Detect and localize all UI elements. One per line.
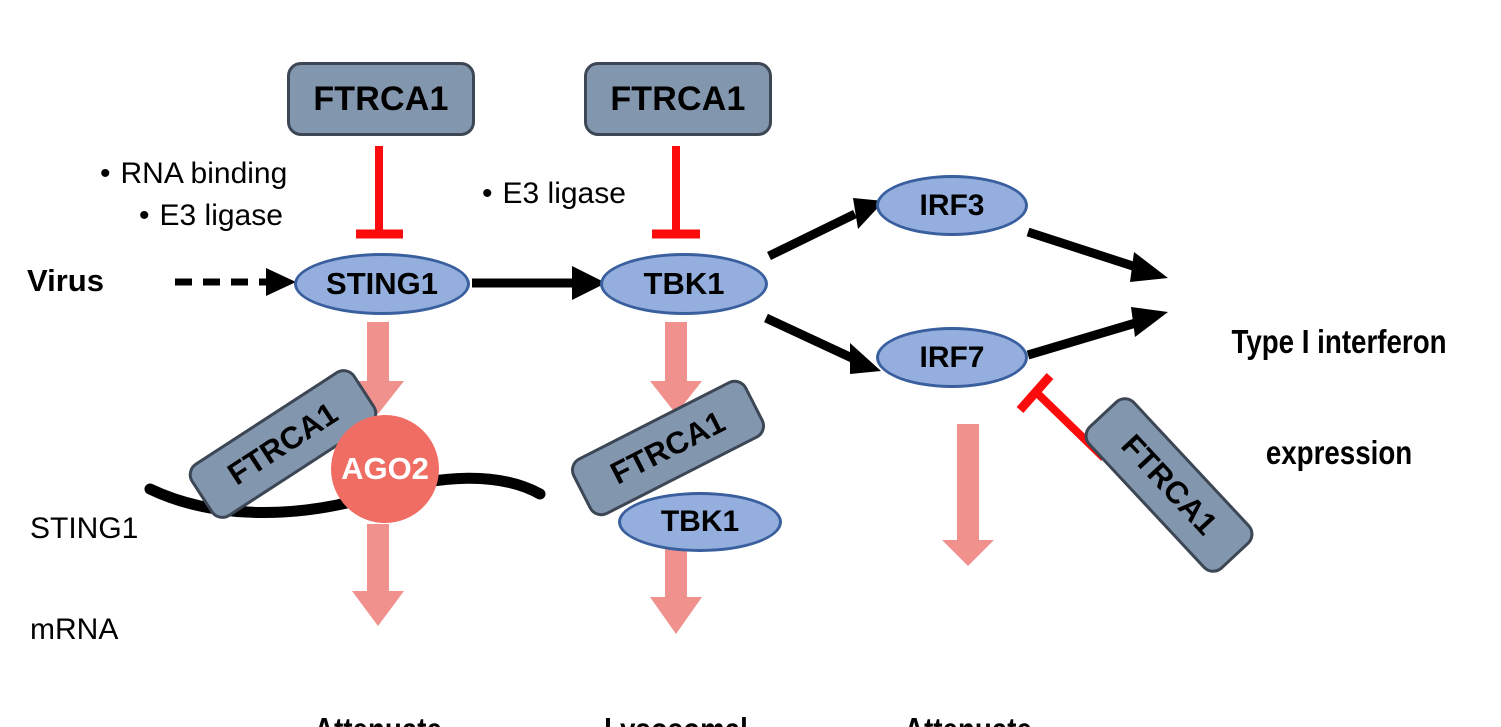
node-label: IRF7 bbox=[919, 341, 984, 375]
edge-tbk1-to-irf7 bbox=[766, 318, 881, 374]
pink-arrow-ago2-down bbox=[352, 524, 404, 626]
label-line-1: Attenuate bbox=[867, 712, 1069, 727]
pink-arrow-irf7-down bbox=[942, 424, 994, 566]
label-line-1: STING1 bbox=[30, 512, 138, 546]
bullet-rna-binding: • RNA binding bbox=[100, 157, 287, 191]
node-irf7[interactable]: IRF7 bbox=[876, 327, 1028, 388]
node-ago2[interactable]: AGO2 bbox=[331, 415, 439, 523]
node-irf3[interactable]: IRF3 bbox=[876, 175, 1028, 236]
node-label: IRF3 bbox=[919, 189, 984, 223]
bullet-marker-icon: • bbox=[139, 201, 150, 231]
label-outcome-left: Attenuate mRNA levels bbox=[277, 638, 479, 727]
inhibition-ftrca1-sting1 bbox=[356, 146, 403, 236]
node-label: FTRCA1 bbox=[313, 80, 448, 119]
label-virus: Virus bbox=[27, 264, 104, 299]
node-ftrca1-tbk1-box[interactable]: FTRCA1 bbox=[584, 62, 772, 136]
node-tbk1[interactable]: TBK1 bbox=[600, 253, 768, 315]
node-label: AGO2 bbox=[341, 451, 429, 487]
label-line-1: Lysosomal bbox=[575, 712, 777, 727]
edge-virus-to-sting1 bbox=[175, 268, 296, 296]
pink-arrow-lysosomal-down bbox=[650, 540, 702, 634]
label-line-1: Type I interferon bbox=[1217, 324, 1461, 361]
pathway-diagram-canvas: STING1 : dashed arrow --> TBK1 : solid a… bbox=[0, 0, 1501, 727]
label-type-i-interferon: Type I interferon expression bbox=[1217, 250, 1461, 546]
edge-tbk1-to-irf3 bbox=[769, 198, 884, 256]
edge-irf7-to-interferon bbox=[1028, 307, 1168, 355]
edge-sting1-to-tbk1 bbox=[472, 266, 606, 300]
label-line-2: mRNA bbox=[30, 613, 138, 647]
bullet-e3-ligase-left: • E3 ligase bbox=[139, 199, 283, 233]
bullet-marker-icon: • bbox=[482, 179, 493, 209]
label-line-1: Attenuate bbox=[277, 712, 479, 727]
inhibition-ftrca1-tbk1 bbox=[652, 146, 700, 236]
node-tbk1-lower[interactable]: TBK1 bbox=[618, 492, 782, 552]
node-label: TBK1 bbox=[644, 266, 725, 302]
bullet-e3-ligase-mid: • E3 ligase bbox=[482, 177, 626, 211]
edge-irf3-to-interferon bbox=[1028, 232, 1168, 282]
label-sting1-mrna: STING1 mRNA bbox=[30, 445, 138, 714]
bullet-marker-icon: • bbox=[100, 159, 111, 189]
bullet-label: E3 ligase bbox=[160, 199, 283, 233]
label-outcome-right: Attenuate mRNA levels bbox=[867, 638, 1069, 727]
node-sting1[interactable]: STING1 bbox=[294, 253, 470, 315]
bullet-label: E3 ligase bbox=[503, 177, 626, 211]
label-outcome-mid: Lysosomal degradation bbox=[575, 638, 777, 727]
node-ftrca1-sting-box[interactable]: FTRCA1 bbox=[287, 62, 475, 136]
node-label: TBK1 bbox=[661, 505, 739, 539]
bullet-label: RNA binding bbox=[121, 157, 288, 191]
node-label: STING1 bbox=[326, 266, 438, 302]
label-line-2: expression bbox=[1217, 435, 1461, 472]
node-label: FTRCA1 bbox=[610, 80, 745, 119]
